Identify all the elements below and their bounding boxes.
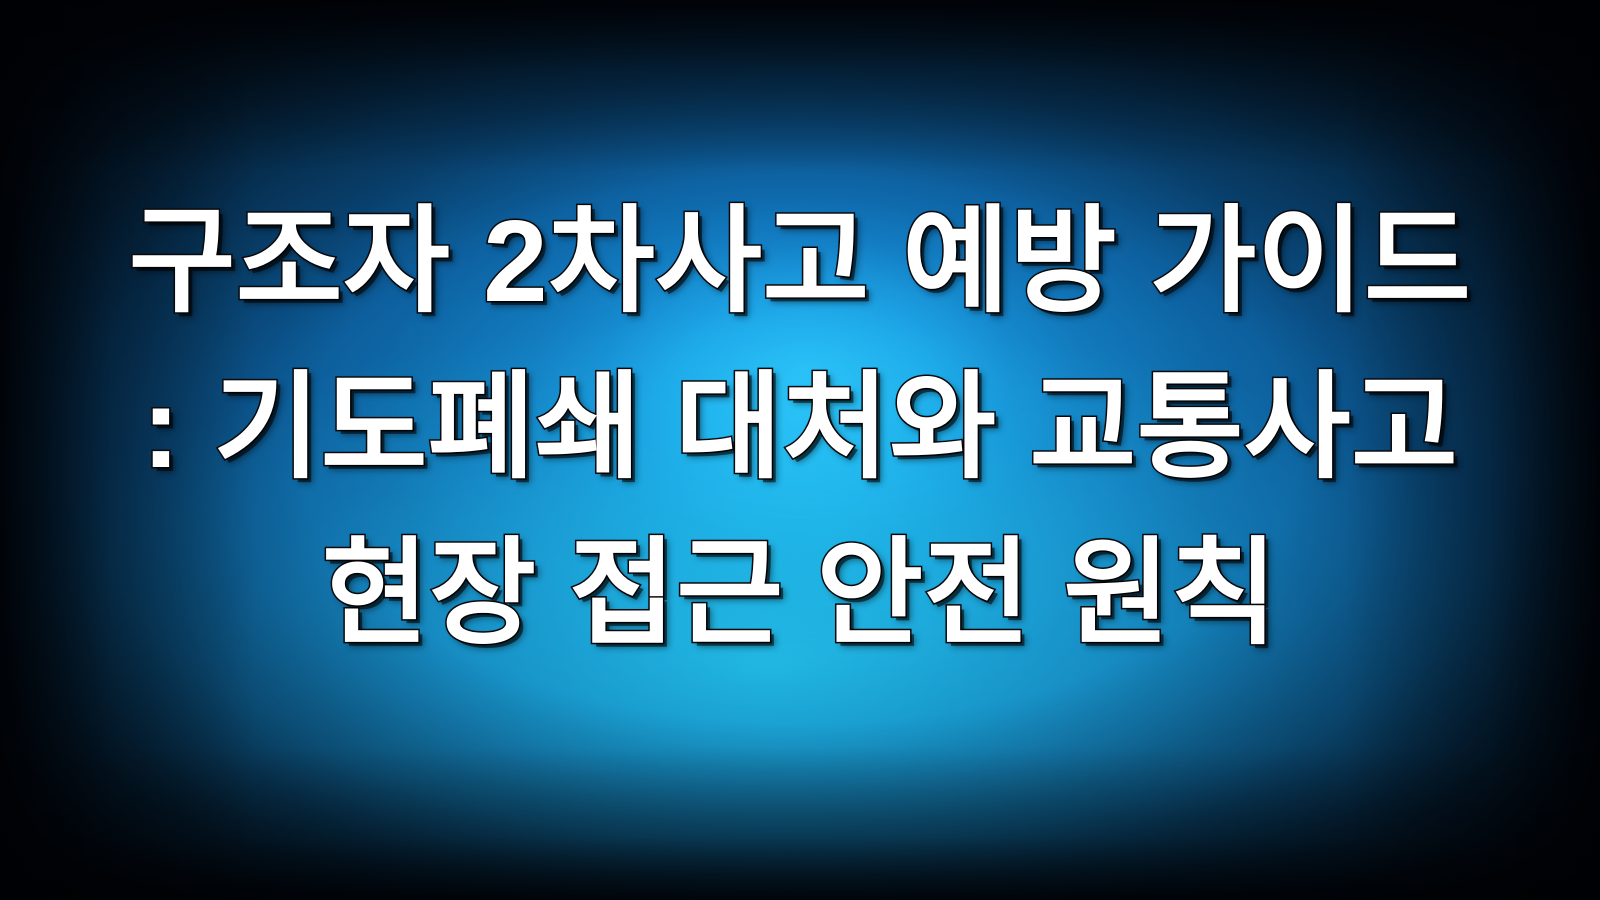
title-line-2: : 기도폐쇄 대처와 교통사고: [40, 344, 1560, 510]
title-line-3: 현장 접근 안전 원칙: [40, 510, 1560, 676]
title-slide: 구조자 2차사고 예방 가이드 : 기도폐쇄 대처와 교통사고 현장 접근 안전…: [0, 0, 1600, 900]
slide-title: 구조자 2차사고 예방 가이드 : 기도폐쇄 대처와 교통사고 현장 접근 안전…: [0, 178, 1600, 676]
title-line-1: 구조자 2차사고 예방 가이드: [40, 178, 1560, 344]
